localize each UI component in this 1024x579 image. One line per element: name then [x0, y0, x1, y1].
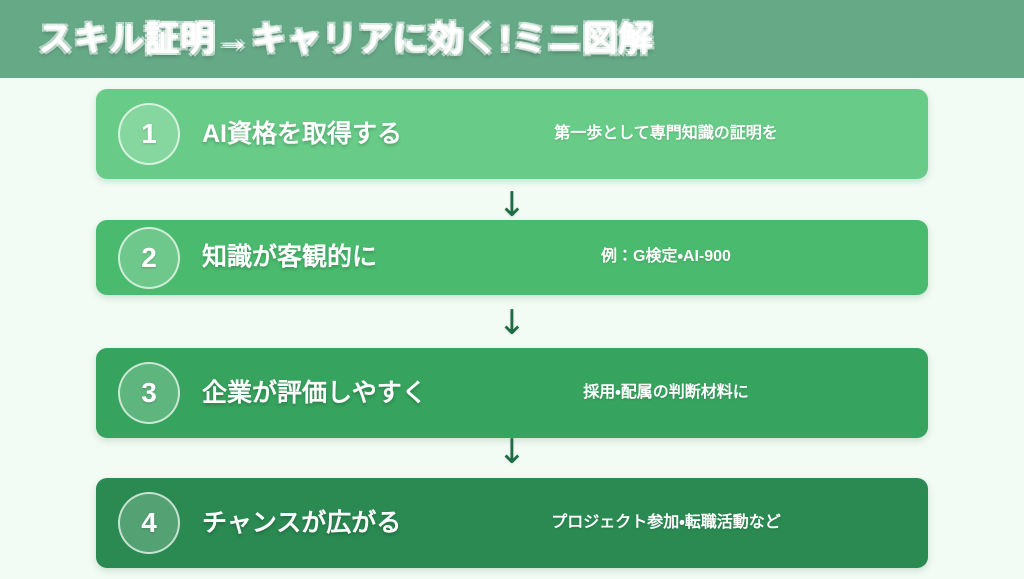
step-title-1: AI資格を取得する	[202, 118, 432, 151]
step-number-label: 1	[141, 118, 157, 150]
step-number-badge-1: 1	[118, 103, 180, 165]
step-number-label: 2	[141, 242, 157, 274]
step-card-4[interactable]: 4 チャンスが広がる プロジェクト参加・転職活動など	[96, 478, 928, 568]
step-description-4: プロジェクト参加・転職活動など	[432, 512, 928, 534]
flow-arrow-down-icon-3: ↓	[0, 435, 1024, 469]
step-card-3[interactable]: 3 企業が評価しやすく 採用・配属の判断材料に	[96, 348, 928, 438]
step-description-2: 例：G検定・AI-900	[432, 246, 928, 268]
flow-diagram: 1 AI資格を取得する 第一歩として専門知識の証明を ↓ 2 知識が客観的に 例…	[0, 78, 1024, 579]
step-title-4: チャンスが広がる	[202, 507, 432, 540]
page-title: スキル証明→キャリアに効く!ミニ図解	[38, 22, 654, 57]
step-number-badge-4: 4	[118, 492, 180, 554]
header-bar: スキル証明→キャリアに効く!ミニ図解	[0, 0, 1024, 78]
flow-arrow-down-icon-1: ↓	[0, 188, 1024, 222]
step-title-3: 企業が評価しやすく	[202, 377, 432, 410]
step-number-label: 4	[141, 507, 157, 539]
step-description-1: 第一歩として専門知識の証明を	[432, 123, 928, 145]
step-card-1[interactable]: 1 AI資格を取得する 第一歩として専門知識の証明を	[96, 89, 928, 179]
step-number-badge-3: 3	[118, 362, 180, 424]
step-card-2[interactable]: 2 知識が客観的に 例：G検定・AI-900	[96, 220, 928, 295]
infographic-page: スキル証明→キャリアに効く!ミニ図解 1 AI資格を取得する 第一歩として専門知…	[0, 0, 1024, 579]
step-description-3: 採用・配属の判断材料に	[432, 382, 928, 404]
step-number-label: 3	[141, 377, 157, 409]
step-number-badge-2: 2	[118, 227, 180, 289]
step-title-2: 知識が客観的に	[202, 241, 432, 274]
flow-arrow-down-icon-2: ↓	[0, 306, 1024, 340]
